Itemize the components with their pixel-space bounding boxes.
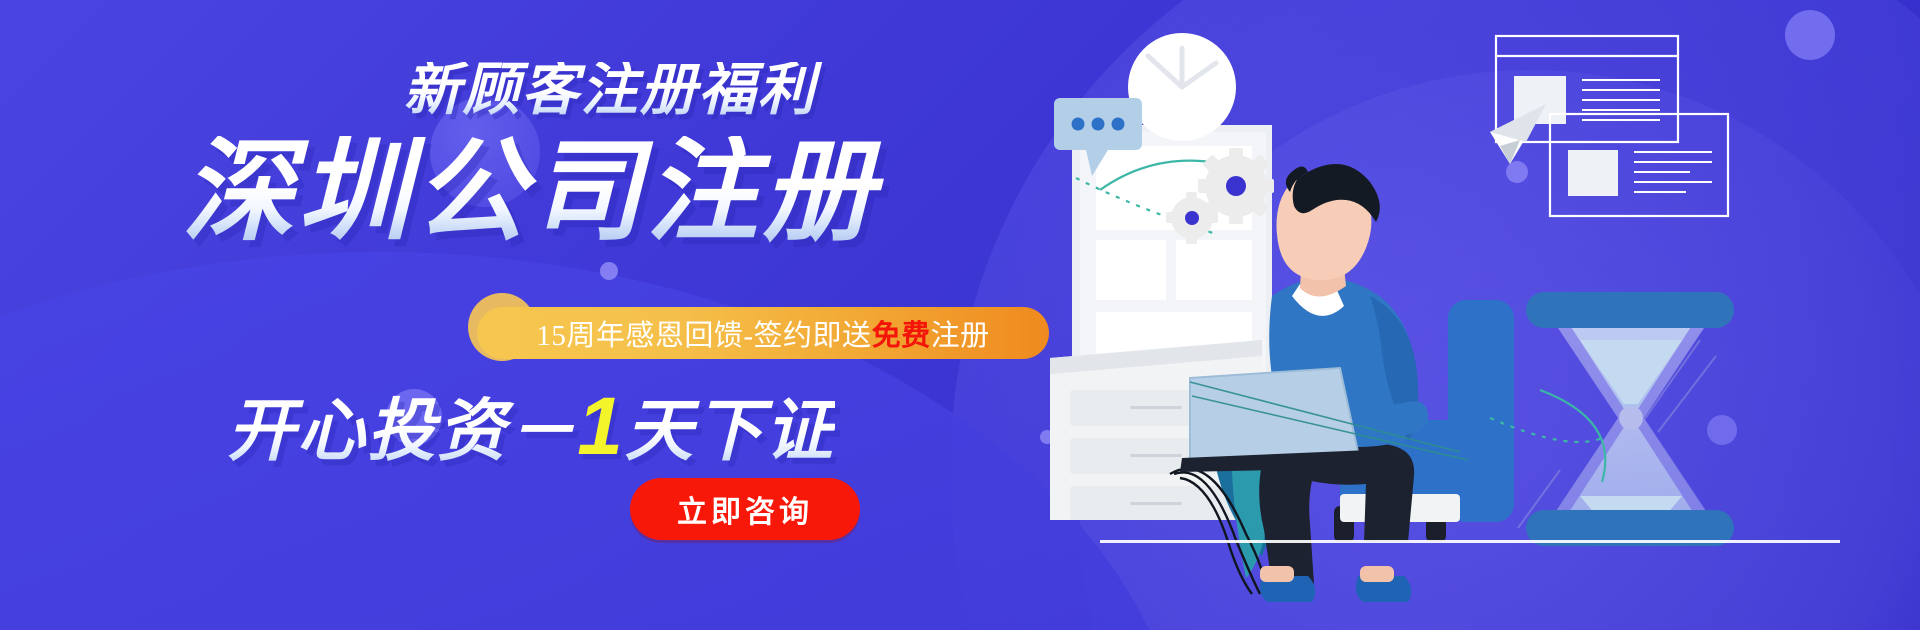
promo-banner: 新顾客注册福利 深圳公司注册 15周年感恩回馈-签约即送免费注册 开心投资－1天… (0, 0, 1920, 630)
promo-pill-prefix: 15周年感恩回馈-签约即送 (536, 320, 871, 352)
promo-pill-suffix: 注册 (931, 320, 990, 352)
banner-tagline: 开心投资－1天下证 (0, 386, 1040, 468)
floor-line (1100, 540, 1840, 543)
tagline-before: 开心投资－ (227, 393, 577, 469)
document-window-bottom (1550, 114, 1728, 216)
banner-headline: 深圳公司注册 (0, 136, 1040, 248)
promo-pill-text: 15周年感恩回馈-签约即送免费注册 (536, 312, 989, 354)
hero-illustration (1040, 0, 1920, 630)
tagline-number: 1 (577, 381, 625, 472)
promo-pill-badge: 15周年感恩回馈-签约即送免费注册 (477, 307, 1049, 359)
consult-now-label: 立即咨询 (677, 487, 813, 531)
promo-pill-highlight: 免费 (872, 320, 931, 352)
hourglass (1518, 292, 1734, 546)
wall-clock-icon (1128, 33, 1236, 141)
tagline-after: 天下证 (625, 393, 835, 469)
banner-eyebrow: 新顾客注册福利 (0, 62, 1040, 119)
consult-now-button[interactable]: 立即咨询 (630, 478, 860, 540)
banner-copy: 新顾客注册福利 深圳公司注册 15周年感恩回馈-签约即送免费注册 开心投资－1天… (0, 0, 1040, 630)
